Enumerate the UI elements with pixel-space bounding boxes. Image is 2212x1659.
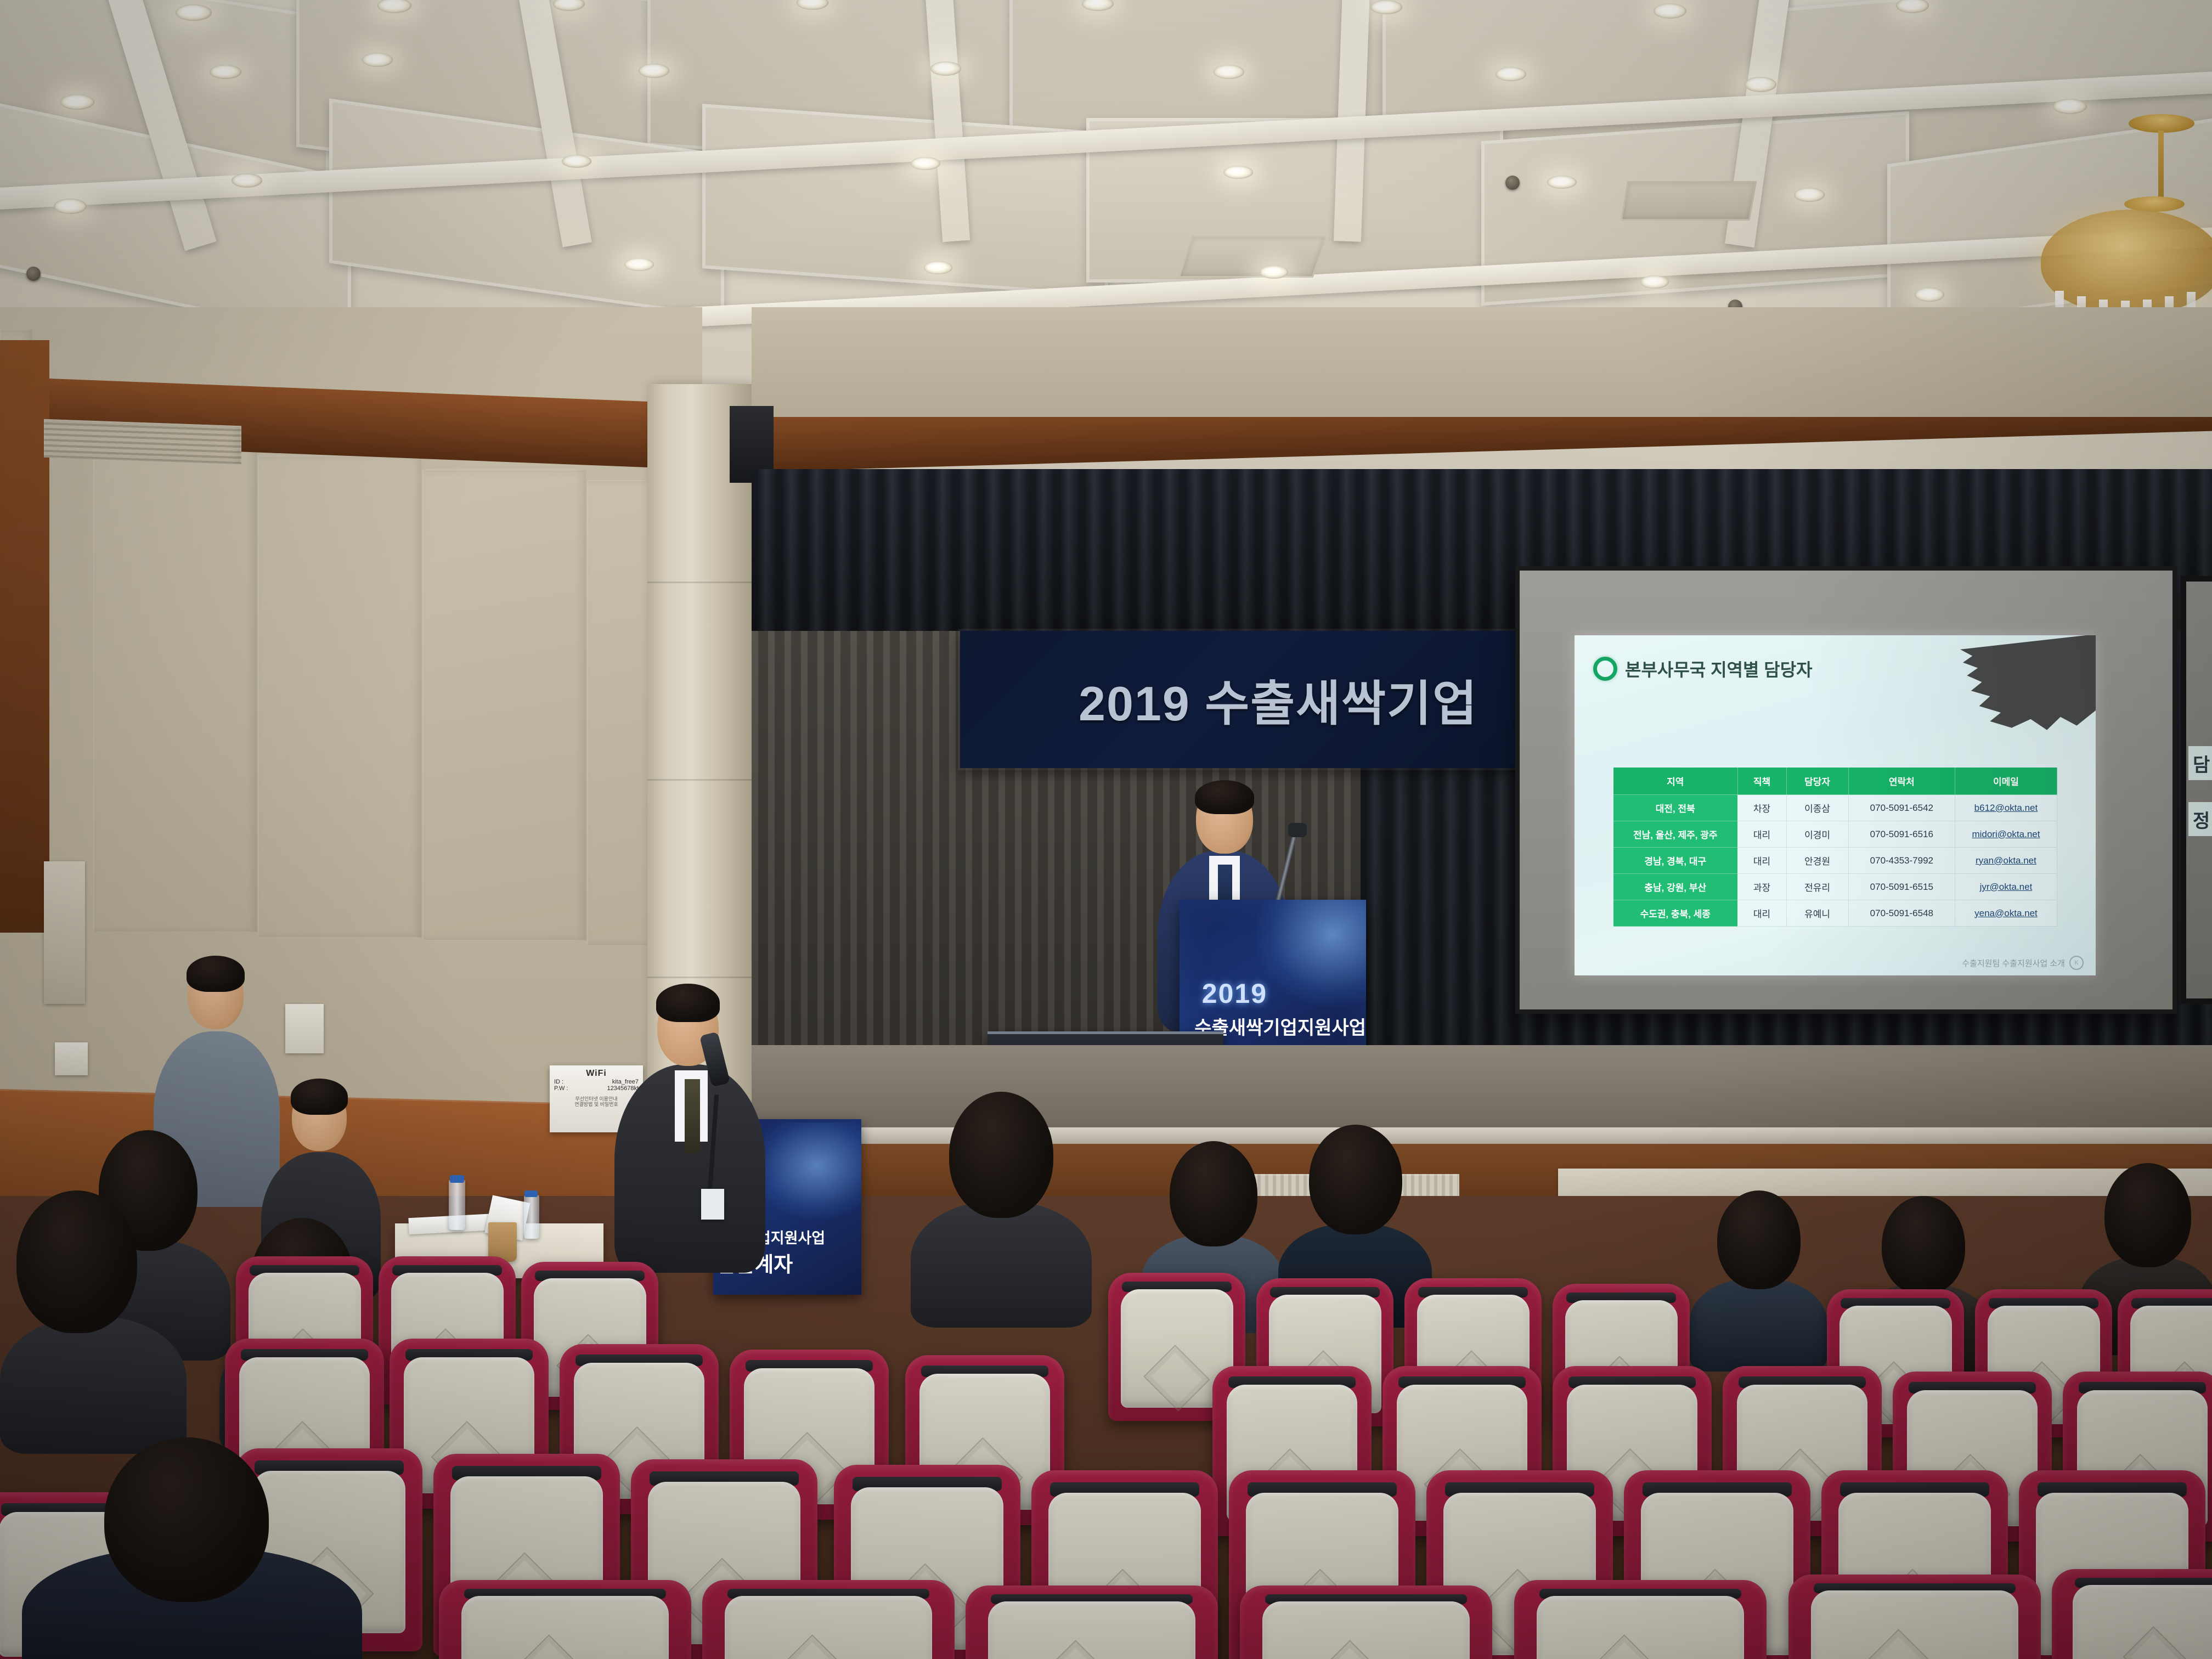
wall-panel [258, 455, 422, 938]
cell-person: 전유리 [1786, 874, 1848, 900]
sprinkler-head [1505, 176, 1520, 190]
col-header-region: 지역 [1613, 768, 1738, 795]
attendee-hair [187, 956, 245, 992]
cell-phone: 070-5091-6516 [1848, 821, 1955, 848]
ceiling-downlight [1794, 188, 1825, 202]
ceiling-downlight [624, 258, 654, 271]
auditorium-seat [1788, 1575, 2041, 1659]
auditorium-seat [2052, 1569, 2212, 1659]
ceiling-downlight [1640, 275, 1669, 289]
secondary-display-fragment: 정 [2188, 802, 2212, 836]
ceiling-downlight [54, 199, 87, 214]
cell-email: jyr@okta.net [1955, 874, 2057, 900]
wifi-id-label: ID : [554, 1079, 563, 1085]
cell-phone: 070-5091-6548 [1848, 900, 1955, 927]
podium-microphone-head [1288, 823, 1307, 837]
auditorium-seat [439, 1580, 691, 1659]
ceiling-downlight [924, 261, 952, 274]
cell-phone: 070-4353-7992 [1848, 848, 1955, 874]
cell-email: b612@okta.net [1955, 795, 2057, 821]
water-bottle-cap [450, 1175, 464, 1183]
table-row: 전남, 울산, 제주, 광주 대리 이경미 070-5091-6516 mido… [1613, 821, 2057, 848]
cell-person: 이종삼 [1786, 795, 1848, 821]
wall-outlet [55, 1042, 88, 1075]
ceiling-downlight [562, 155, 591, 168]
slide-footer: 수출지원팀 수출지원사업 소개 K [1962, 956, 2084, 970]
audience-torso [911, 1201, 1092, 1328]
seat-back-pad [1537, 1596, 1743, 1659]
ceiling-downlight [1547, 176, 1577, 189]
ceiling-downlight [1260, 266, 1288, 279]
speaker-hair [1195, 780, 1254, 814]
ceiling-downlight [1370, 0, 1402, 14]
table-header-row: 지역 직책 담당자 연락처 이메일 [1613, 768, 2057, 795]
wifi-pw-label: P.W : [554, 1085, 568, 1092]
ceiling-downlight [210, 65, 241, 79]
cell-email: midori@okta.net [1955, 821, 2057, 848]
foreground-attendee-head [104, 1437, 269, 1602]
wall-panel [93, 439, 258, 933]
podium-year: 2019 [1202, 978, 1267, 1009]
ceiling-downlight [60, 94, 94, 110]
ceiling-downlight [362, 53, 393, 67]
seat-back-pad [988, 1601, 1195, 1659]
water-bottle-cap [524, 1190, 538, 1197]
audience-torso [0, 1317, 187, 1454]
audience-head [949, 1092, 1053, 1218]
audience-member [0, 1190, 187, 1454]
seat-back-pad [1262, 1601, 1469, 1659]
slide-heading: 본부사무국 지역별 담당자 [1593, 656, 1813, 681]
wall-speaker-box [44, 861, 85, 1004]
podium-globe-graphic [1254, 900, 1366, 1008]
audience-head [1717, 1190, 1801, 1289]
audience-member [911, 1092, 1092, 1322]
table-row: 충남, 강원, 부산 과장 전유리 070-5091-6515 jyr@okta… [1613, 874, 2057, 900]
auditorium-seat [966, 1585, 1218, 1659]
col-header-email: 이메일 [1955, 768, 2057, 795]
audience-head [16, 1190, 137, 1333]
presentation-slide: 본부사무국 지역별 담당자 지역 직책 담당자 연락처 이메일 [1575, 635, 2096, 975]
ceiling-downlight [1745, 77, 1776, 92]
ceiling-downlight [1214, 65, 1244, 79]
ceiling-downlight [1223, 166, 1253, 179]
slide-heading-text: 본부사무국 지역별 담당자 [1625, 656, 1813, 681]
col-header-phone: 연락처 [1848, 768, 1955, 795]
wall-wood-trim-left [0, 340, 49, 933]
presenter-badge [701, 1189, 724, 1220]
seat-back-pad [461, 1596, 668, 1659]
slide-occlusion-shadow [1960, 635, 2096, 743]
audience-head [2104, 1163, 2191, 1267]
attendee-hair [291, 1079, 348, 1115]
ceiling-downlight [930, 61, 961, 76]
table-row: 대전, 전북 차장 이종삼 070-5091-6542 b612@okta.ne… [1613, 795, 2057, 821]
wall-vent-grille [44, 419, 241, 465]
cell-person: 이경미 [1786, 821, 1848, 848]
cell-position: 차장 [1737, 795, 1786, 821]
cell-phone: 070-5091-6515 [1848, 874, 1955, 900]
cell-phone: 070-5091-6542 [1848, 795, 1955, 821]
region-contact-table: 지역 직책 담당자 연락처 이메일 대전, 전북 차장 이종삼 070-5091… [1613, 767, 2057, 927]
chandelier [2024, 115, 2212, 335]
ac-vent [1621, 181, 1757, 221]
slide-footer-badge-icon: K [2069, 956, 2084, 970]
cell-person: 유예니 [1786, 900, 1848, 927]
wall-panel [422, 469, 587, 941]
table-row: 경남, 경북, 대구 대리 안경원 070-4353-7992 ryan@okt… [1613, 848, 2057, 874]
cell-region: 대전, 전북 [1613, 795, 1738, 821]
wall-upper-right [752, 307, 2212, 417]
cell-region: 수도권, 충북, 세종 [1613, 900, 1738, 927]
presenter-hair [656, 984, 720, 1022]
projection-screen: 본부사무국 지역별 담당자 지역 직책 담당자 연락처 이메일 [1520, 571, 2172, 1009]
foreground-attendee [22, 1514, 362, 1659]
auditorium-seat [1514, 1580, 1767, 1659]
audience-head [1309, 1125, 1402, 1234]
cell-position: 대리 [1737, 900, 1786, 927]
ceiling-downlight [1915, 287, 1944, 302]
cell-email: yena@okta.net [1955, 900, 2057, 927]
column-seam [647, 582, 752, 583]
cell-position: 과장 [1737, 874, 1786, 900]
audience-member [1690, 1190, 1827, 1366]
seat-back-pad [725, 1596, 932, 1659]
ceiling-downlight [1654, 3, 1686, 19]
col-header-position: 직책 [1737, 768, 1786, 795]
seat-back-pad [1811, 1590, 2018, 1659]
ceiling-downlight [1496, 67, 1526, 81]
conference-photo-scene: 2019 수출새싹기업 2019 수출새싹기업지원사업 사업관계자 워크숍 KI… [0, 0, 2212, 1659]
secondary-display: 담 정 [2186, 582, 2212, 998]
audience-head [1882, 1196, 1965, 1295]
slide-footer-text: 수출지원팀 수출지원사업 소개 [1962, 957, 2065, 969]
col-header-person: 담당자 [1786, 768, 1848, 795]
audience-head [1170, 1141, 1257, 1246]
cell-position: 대리 [1737, 848, 1786, 874]
ceiling-downlight [2053, 99, 2087, 114]
auditorium-seat [1240, 1585, 1492, 1659]
mic-presenter [603, 963, 779, 1270]
column-seam [647, 779, 752, 781]
presenter-tie [685, 1079, 700, 1153]
wall-control-panel [285, 1004, 324, 1053]
cell-email: ryan@okta.net [1955, 848, 2057, 874]
auditorium-seat [702, 1580, 955, 1659]
cell-region: 전남, 울산, 제주, 광주 [1613, 821, 1738, 848]
bullet-ring-icon [1593, 657, 1617, 681]
table-row: 수도권, 충북, 세종 대리 유예니 070-5091-6548 yena@ok… [1613, 900, 2057, 927]
water-bottle [449, 1180, 465, 1230]
ac-vent [1178, 236, 1327, 278]
ceiling-downlight [639, 64, 669, 78]
stage-banner: 2019 수출새싹기업 [960, 631, 1596, 768]
stage-banner-text: 2019 수출새싹기업 [1079, 665, 1478, 735]
secondary-display-fragment: 담 [2188, 746, 2212, 780]
water-bottle [524, 1195, 539, 1239]
seat-back-pad [2073, 1585, 2212, 1659]
cell-position: 대리 [1737, 821, 1786, 848]
ceiling-downlight [176, 4, 212, 21]
cell-region: 충남, 강원, 부산 [1613, 874, 1738, 900]
cell-person: 안경원 [1786, 848, 1848, 874]
audience-torso [1690, 1278, 1827, 1372]
cell-region: 경남, 경북, 대구 [1613, 848, 1738, 874]
sprinkler-head [26, 267, 41, 281]
ceiling-downlight [911, 157, 940, 170]
ceiling-downlight [232, 173, 262, 188]
